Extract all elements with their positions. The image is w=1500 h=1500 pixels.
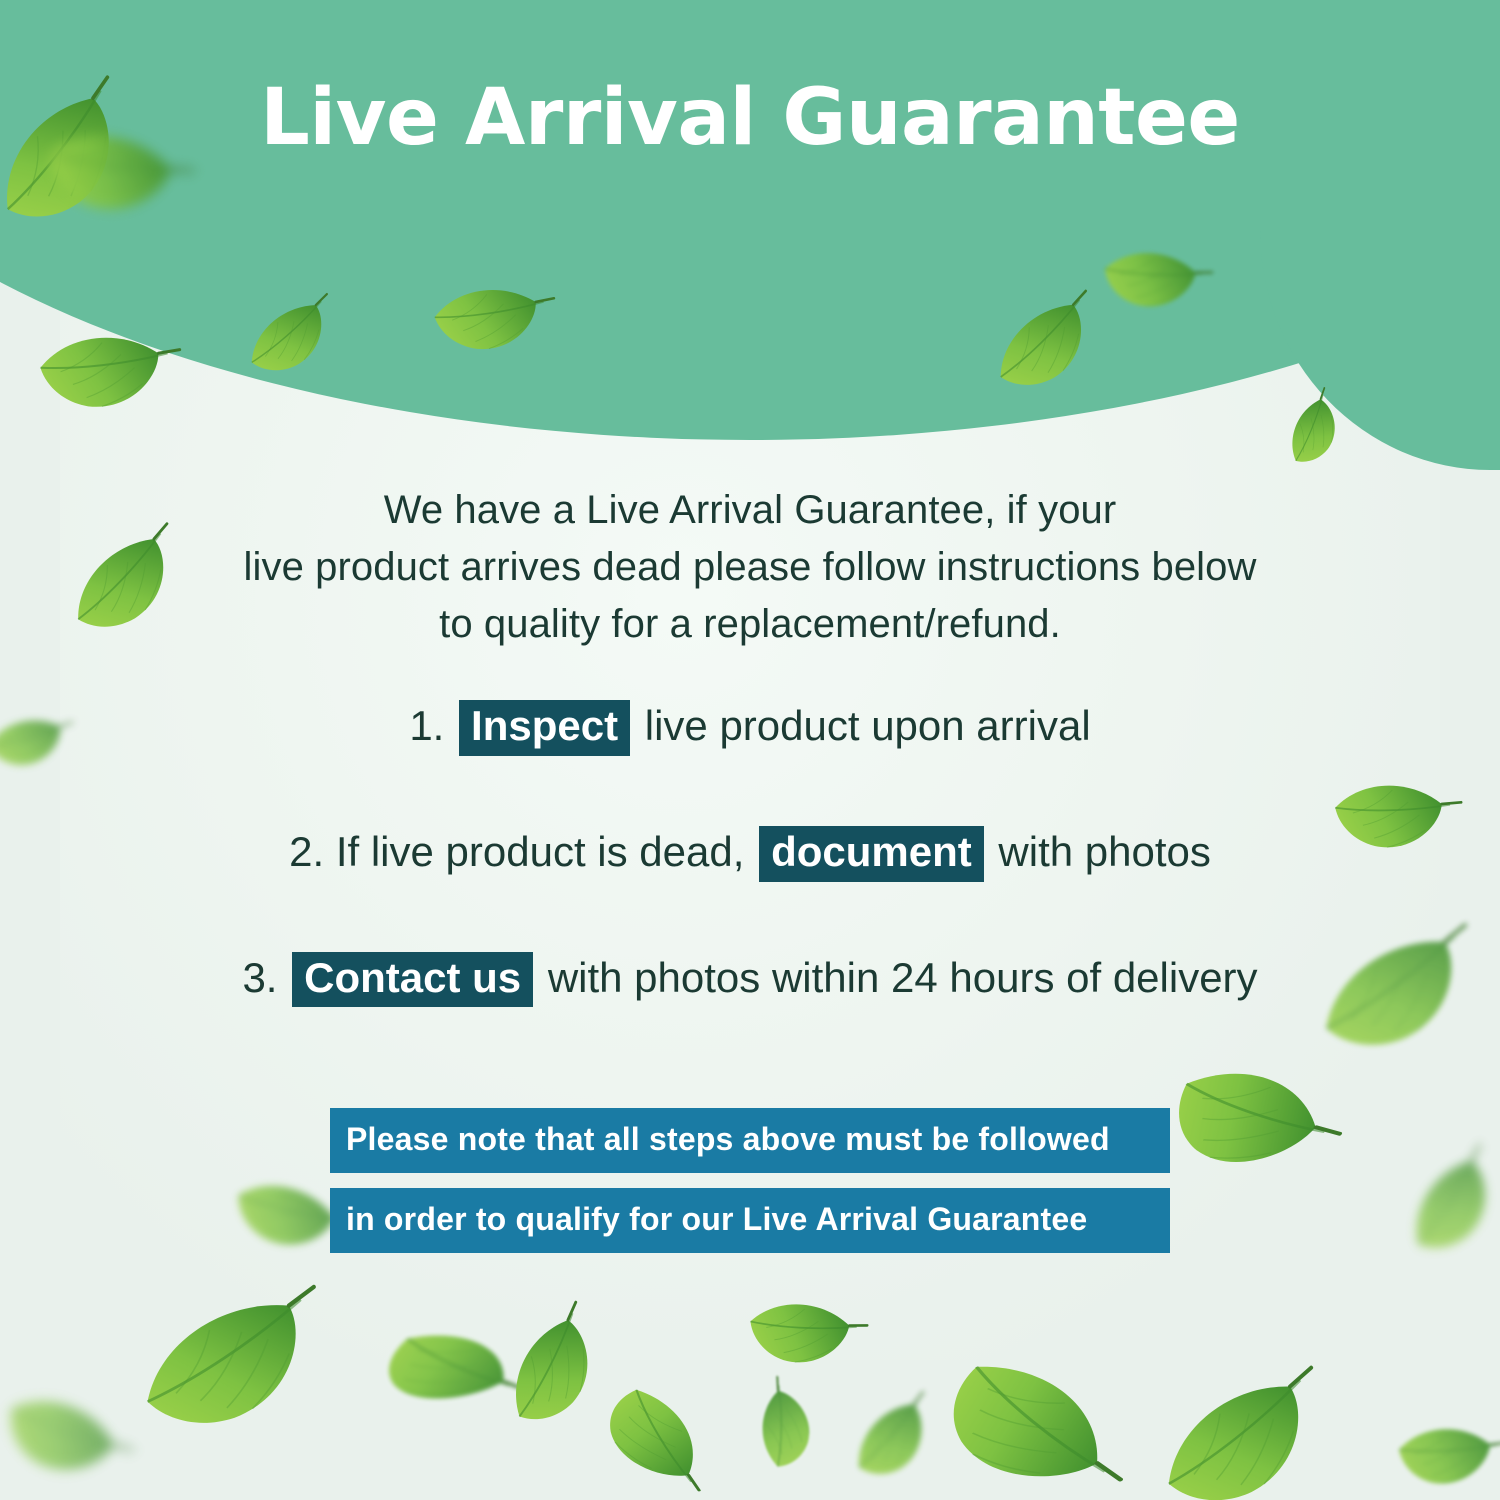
step-1-after: live product upon arrival bbox=[645, 702, 1091, 749]
step-2-highlight: document bbox=[759, 826, 984, 882]
note-line-1: Please note that all steps above must be… bbox=[330, 1108, 1170, 1173]
note-line-2: in order to qualify for our Live Arrival… bbox=[330, 1188, 1170, 1253]
poster-root: Live Arrival Guarantee We have a Live Ar… bbox=[0, 0, 1500, 1500]
note-banner: Please note that all steps above must be… bbox=[330, 1108, 1170, 1253]
leaf-bottom-11 bbox=[1383, 1396, 1500, 1500]
leaf-bottom-4 bbox=[475, 1291, 636, 1443]
step-item-1: 1. Inspect live product upon arrival bbox=[0, 700, 1500, 756]
intro-line-2: live product arrives dead please follow … bbox=[150, 539, 1350, 596]
leaf-bottom-5 bbox=[595, 1380, 714, 1499]
steps-list: 1. Inspect live product upon arrival 2. … bbox=[0, 700, 1500, 1007]
intro-paragraph: We have a Live Arrival Guarantee, if you… bbox=[150, 482, 1350, 652]
leaf-right-note bbox=[1146, 1016, 1355, 1225]
step-1-number: 1. bbox=[409, 702, 444, 749]
leaf-bottom-7 bbox=[732, 1266, 878, 1400]
step-2-after: with photos bbox=[998, 828, 1210, 875]
step-3-after: with photos within 24 hours of delivery bbox=[548, 954, 1258, 1001]
header-green-right-corner bbox=[1260, 0, 1500, 470]
leaf-bottom-3 bbox=[367, 1299, 533, 1441]
step-3-number: 3. bbox=[242, 954, 277, 1001]
leaf-bottom-10 bbox=[1139, 1357, 1352, 1500]
leaf-bottom-6 bbox=[732, 1369, 838, 1482]
step-2-number: 2. bbox=[289, 828, 324, 875]
step-1-highlight: Inspect bbox=[459, 700, 630, 756]
leaf-bottom-9 bbox=[926, 1326, 1134, 1500]
leaf-right-low bbox=[1382, 1136, 1500, 1270]
intro-line-3: to quality for a replacement/refund. bbox=[150, 596, 1350, 653]
intro-line-1: We have a Live Arrival Guarantee, if you… bbox=[150, 482, 1350, 539]
leaf-bottom-1 bbox=[121, 1276, 348, 1444]
step-item-2: 2. If live product is dead, document wit… bbox=[0, 826, 1500, 882]
leaf-bottom-12 bbox=[0, 1357, 144, 1500]
page-title: Live Arrival Guarantee bbox=[0, 78, 1500, 160]
step-3-highlight: Contact us bbox=[292, 952, 533, 1008]
step-item-3: 3. Contact us with photos within 24 hour… bbox=[0, 952, 1500, 1008]
step-2-before: If live product is dead, bbox=[336, 828, 745, 875]
leaf-bottom-8 bbox=[835, 1385, 955, 1490]
